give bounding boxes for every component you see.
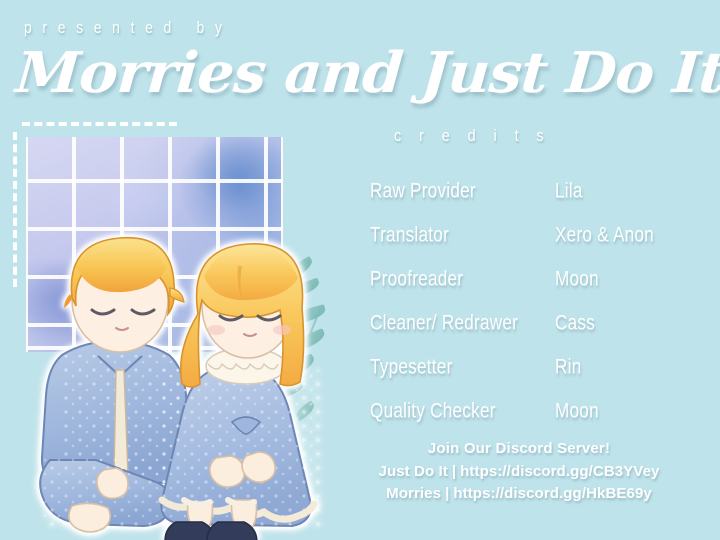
discord-server-url[interactable]: https://discord.gg/CB3YVey [460,463,659,480]
credit-row: Typesetter Rin [370,346,700,390]
credit-row: Translator Xero & Anon [370,214,700,258]
credit-role-label: Typesetter [370,356,537,381]
discord-server-row: Just Do It|https://discord.gg/CB3YVey [330,463,708,480]
credit-role-label: Quality Checker [370,400,537,425]
credit-role-label: Cleaner/ Redrawer [370,312,537,337]
discord-server-url[interactable]: https://discord.gg/HkBE69y [453,485,651,502]
credit-role-label: Translator [370,224,537,249]
characters-svg [20,170,320,540]
girl-blush-right [273,325,291,335]
credits-table: Raw Provider Lila Translator Xero & Anon… [370,170,700,434]
girl-hand-right [242,452,275,482]
illustration [0,110,330,540]
boy-hand [97,468,128,498]
slipper-right [207,522,257,540]
credit-row: Cleaner/ Redrawer Cass [370,302,700,346]
credit-role-label: Proofreader [370,268,537,293]
discord-server-name: Just Do It [379,463,448,480]
dashed-frame-top [22,122,177,126]
credit-row: Quality Checker Moon [370,390,700,434]
credit-row: Raw Provider Lila [370,170,700,214]
credit-role-value: Moon [555,400,685,425]
credit-role-label: Raw Provider [370,180,537,205]
credit-role-value: Cass [555,312,685,337]
boy-foot [69,503,110,532]
credits-page: presented by Morries and Just Do It [0,0,720,540]
credits-heading: credits [394,126,562,146]
girl-hand-left [210,456,245,487]
presented-by-label: presented by [24,18,233,38]
credit-role-value: Rin [555,356,685,381]
discord-block: Join Our Discord Server! Just Do It|http… [330,440,708,507]
discord-separator: | [441,485,453,502]
discord-server-row: Morries|https://discord.gg/HkBE69y [330,485,708,502]
credit-row: Proofreader Moon [370,258,700,302]
discord-separator: | [448,463,460,480]
credit-role-value: Xero & Anon [555,224,685,249]
characters-artwork [20,170,320,540]
credit-role-value: Lila [555,180,685,205]
dashed-frame-left [13,132,17,287]
credit-role-value: Moon [555,268,685,293]
discord-server-name: Morries [386,485,441,502]
discord-invite-title: Join Our Discord Server! [330,440,708,457]
girl-blush-left [207,325,225,335]
page-title: Morries and Just Do It [13,36,720,110]
